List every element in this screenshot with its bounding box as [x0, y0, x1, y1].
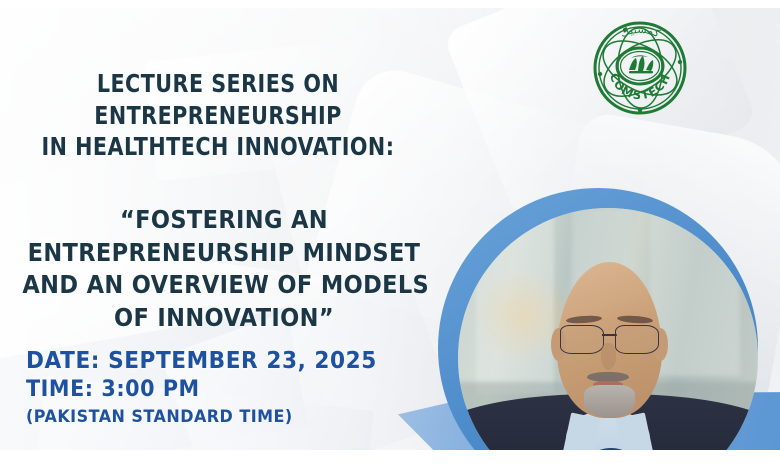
poster-headline: LECTURE SERIES ON ENTREPRENEURSHIP IN HE…: [17, 68, 418, 163]
svg-text:COMSTECH: COMSTECH: [607, 71, 674, 102]
comstech-logo: كمستيك COMSTECH: [583, 18, 697, 118]
event-time: TIME: 3:00 PM: [26, 377, 377, 404]
glasses-lens-left: [560, 325, 604, 354]
portrait-backdrop-panel-left: [476, 208, 554, 394]
glasses-lens-right: [615, 325, 659, 354]
event-timezone: (PAKISTAN STANDARD TIME): [26, 407, 377, 428]
event-details: DATE: SEPTEMBER 23, 2025 TIME: 3:00 PM (…: [26, 348, 399, 428]
headline-line-3: IN HEALTHTECH INNOVATION:: [17, 131, 418, 163]
top-white-margin: [0, 0, 780, 8]
quote-line-1: “FOSTERING AN: [22, 204, 425, 237]
lecture-announcement-poster: كمستيك COMSTECH LECTURE SERIES ON ENTREP…: [0, 0, 780, 470]
portrait-beard: [584, 385, 635, 418]
headline-line-1: LECTURE SERIES ON: [17, 68, 418, 100]
quote-line-2: ENTREPRENEURSHIP MINDSET: [22, 237, 425, 270]
speaker-photo: [458, 208, 758, 470]
headline-line-2: ENTREPRENEURSHIP: [17, 100, 418, 132]
portrait-nose: [601, 343, 616, 370]
bottom-white-margin: [0, 450, 780, 470]
quote-line-4: OF INNOVATION”: [22, 302, 425, 335]
event-date: DATE: SEPTEMBER 23, 2025: [26, 348, 377, 375]
lecture-title-quote: “FOSTERING AN ENTREPRENEURSHIP MINDSET A…: [22, 204, 425, 334]
quote-line-3: AND AN OVERVIEW OF MODELS: [22, 269, 425, 302]
